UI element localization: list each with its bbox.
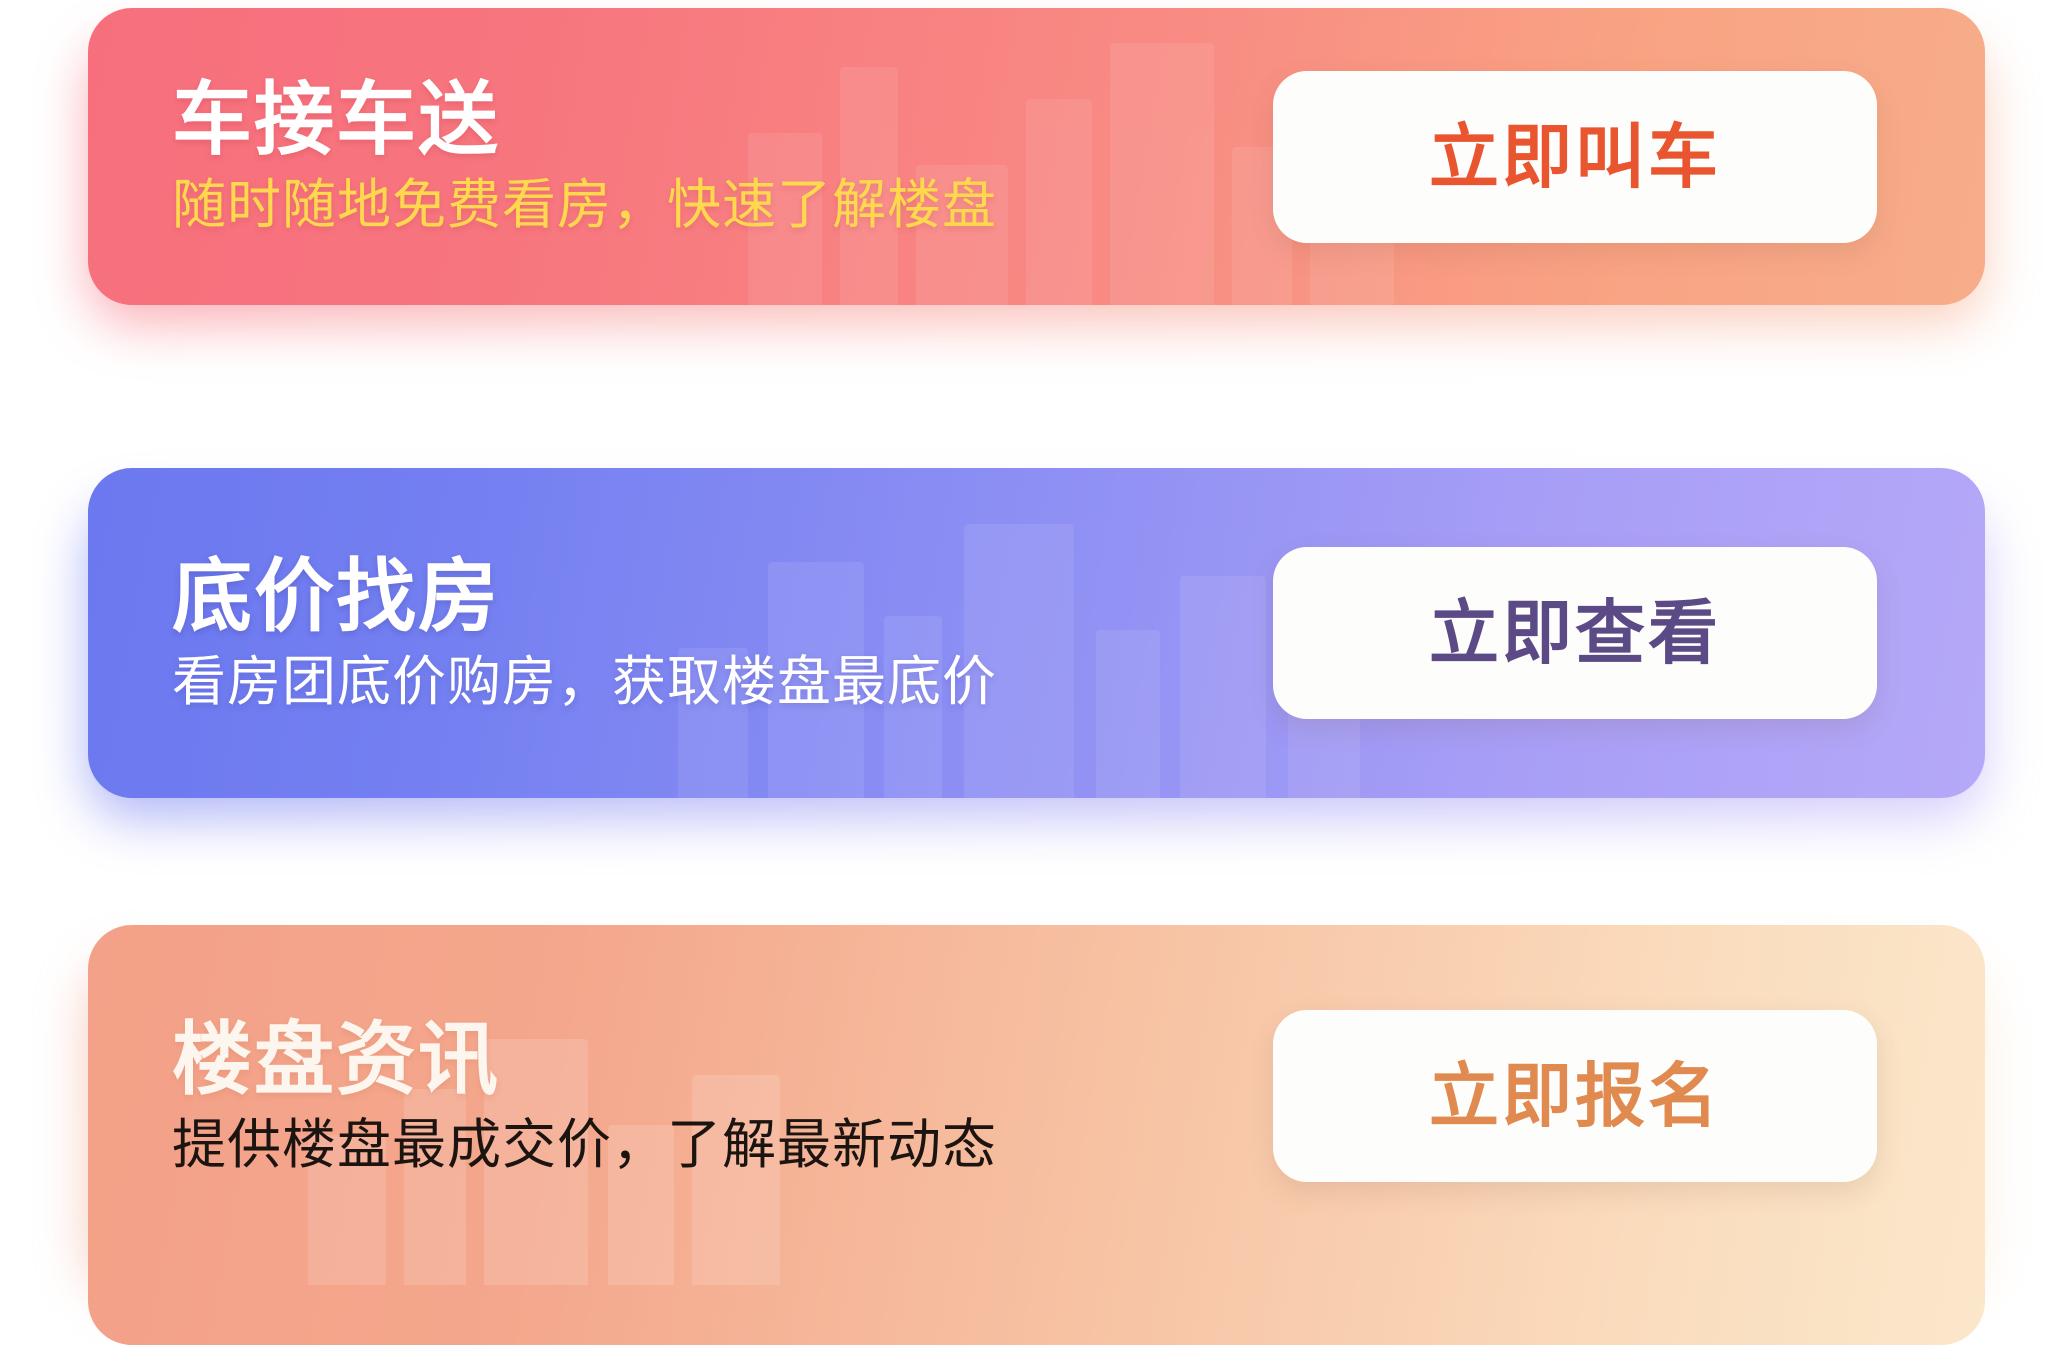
card-body-lowest-price: 底价找房 看房团底价购房，获取楼盘最底价 立即查看: [88, 468, 1985, 798]
call-car-button-label: 立即叫车: [1429, 122, 1721, 192]
sign-up-button-label: 立即报名: [1429, 1061, 1721, 1131]
card-subtitle-lowest-price: 看房团底价购房，获取楼盘最底价: [172, 652, 997, 712]
view-now-button-label: 立即查看: [1429, 598, 1721, 668]
card-title-lowest-price: 底价找房: [172, 554, 997, 640]
call-car-button[interactable]: 立即叫车: [1273, 71, 1877, 243]
card-text-car-service: 车接车送 随时随地免费看房，快速了解楼盘: [172, 77, 997, 236]
card-title-car-service: 车接车送: [172, 77, 997, 163]
card-body-car-service: 车接车送 随时随地免费看房，快速了解楼盘 立即叫车: [88, 8, 1985, 305]
promo-banner-stage: 车接车送 随时随地免费看房，快速了解楼盘 立即叫车: [0, 0, 2064, 1280]
card-body-property-news: 楼盘资讯 提供楼盘最成交价，了解最新动态 立即报名: [88, 925, 1985, 1345]
promo-card-lowest-price[interactable]: 底价找房 看房团底价购房，获取楼盘最底价 立即查看: [88, 468, 1985, 798]
sign-up-button[interactable]: 立即报名: [1273, 1010, 1877, 1182]
card-text-property-news: 楼盘资讯 提供楼盘最成交价，了解最新动态: [172, 1017, 997, 1176]
promo-card-property-news[interactable]: 楼盘资讯 提供楼盘最成交价，了解最新动态 立即报名: [88, 925, 1985, 1345]
card-subtitle-car-service: 随时随地免费看房，快速了解楼盘: [172, 175, 997, 235]
view-now-button[interactable]: 立即查看: [1273, 547, 1877, 719]
card-text-lowest-price: 底价找房 看房团底价购房，获取楼盘最底价: [172, 554, 997, 713]
promo-card-car-service[interactable]: 车接车送 随时随地免费看房，快速了解楼盘 立即叫车: [88, 8, 1985, 305]
card-title-property-news: 楼盘资讯: [172, 1017, 997, 1103]
card-subtitle-property-news: 提供楼盘最成交价，了解最新动态: [172, 1115, 997, 1175]
